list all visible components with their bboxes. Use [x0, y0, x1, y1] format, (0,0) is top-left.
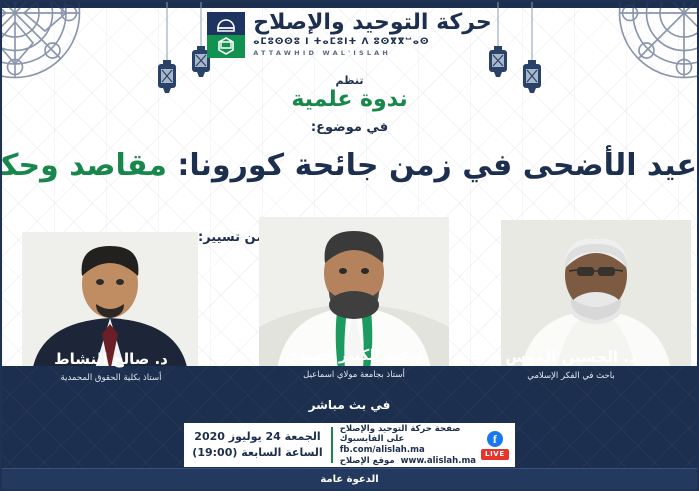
speaker-affiliation-1: أستاذ بجامعة مولاي اسماعيل	[254, 370, 454, 380]
broadcast-info-band: f LIVE صفحة حركة التوحيد والإصلاح على ال…	[2, 423, 697, 467]
footer-bar: الدعوة عامة	[2, 468, 697, 489]
subject-label: في موضوع:	[2, 120, 697, 135]
info-divider	[331, 427, 333, 463]
footer-note: الدعوة عامة	[320, 474, 378, 485]
date-time-box: الجمعة 24 يوليوز 2020 الساعة السابعة (19…	[184, 423, 330, 467]
mosque-dome-logo-icon	[207, 12, 245, 58]
social-text-block: صفحة حركة التوحيد والإصلاح على الفايسبوك…	[340, 424, 476, 467]
facebook-url[interactable]: fb.com/alislah.ma	[340, 445, 425, 456]
seminar-poster: حركة التوحيد والإصلاح ⴰⵎⵓⵙⵙⵓ ⵏ ⵜⴰⵎⵓⵏⵜ ⴷ …	[0, 0, 699, 491]
speaker-name-1: د.عبد الكبير حميدي	[254, 346, 454, 364]
broadcast-info-box: f LIVE صفحة حركة التوحيد والإصلاح على ال…	[184, 423, 514, 467]
org-name-latin: ATTAWHID WAL'ISLAH	[253, 50, 391, 57]
logo-text-block: حركة التوحيد والإصلاح ⴰⵎⵓⵙⵙⵓ ⵏ ⵜⴰⵎⵓⵏⵜ ⴷ …	[253, 12, 492, 57]
speaker-name-2: د. صالح النشاط	[16, 350, 206, 368]
facebook-page-line-2: على الفايسبوك	[340, 434, 405, 445]
title-part-highlight: مقاصد وحكم	[0, 148, 167, 183]
moderator-role-label: من تسيير:	[198, 230, 264, 245]
title-part-main: عيد الأضحى في زمن جائحة كورونا:	[177, 148, 697, 183]
speaker-name-text-1: د.عبد الكبير حميدي	[254, 346, 454, 364]
website-row[interactable]: www.alislah.ma موقع الإصلاح	[340, 456, 476, 467]
org-name-arabic: حركة التوحيد والإصلاح	[253, 12, 492, 34]
social-icon-stack: f LIVE	[481, 431, 509, 460]
event-time: الساعة السابعة (19:00)	[192, 445, 322, 461]
speaker-affiliation-0: باحث في الفكر الإسلامي	[471, 371, 671, 381]
event-date: الجمعة 24 يوليوز 2020	[194, 429, 320, 445]
org-name-tifinagh: ⴰⵎⵓⵙⵙⵓ ⵏ ⵜⴰⵎⵓⵏⵜ ⴷ ⵓⵙⴳⴳⵯⴰⵙ	[253, 38, 429, 47]
website-url[interactable]: www.alislah.ma	[401, 456, 476, 467]
speaker-name-0: د. الحسين الموس	[471, 348, 671, 366]
facebook-icon[interactable]: f	[487, 431, 503, 447]
live-broadcast-label: في بث مباشر	[2, 398, 697, 412]
facebook-page-line-1: صفحة حركة التوحيد والإصلاح	[340, 424, 461, 435]
event-type-label: ندوة علمية	[2, 87, 697, 112]
social-info-box[interactable]: f LIVE صفحة حركة التوحيد والإصلاح على ال…	[333, 423, 515, 467]
live-badge: LIVE	[481, 449, 509, 460]
website-label: موقع الإصلاح	[340, 456, 395, 467]
page-title: عيد الأضحى في زمن جائحة كورونا: مقاصد وح…	[2, 148, 697, 183]
speaker-name-text-2: د. صالح النشاط	[16, 350, 206, 368]
organization-logo: حركة التوحيد والإصلاح ⴰⵎⵓⵙⵙⵓ ⵏ ⵜⴰⵎⵓⵏⵜ ⴷ …	[2, 12, 697, 58]
speaker-name-text-0: د. الحسين الموس	[471, 348, 671, 366]
organizes-label: تنظم	[2, 74, 697, 87]
speaker-affiliation-2: أستاذ بكلية الحقوق المحمدية	[16, 373, 206, 383]
